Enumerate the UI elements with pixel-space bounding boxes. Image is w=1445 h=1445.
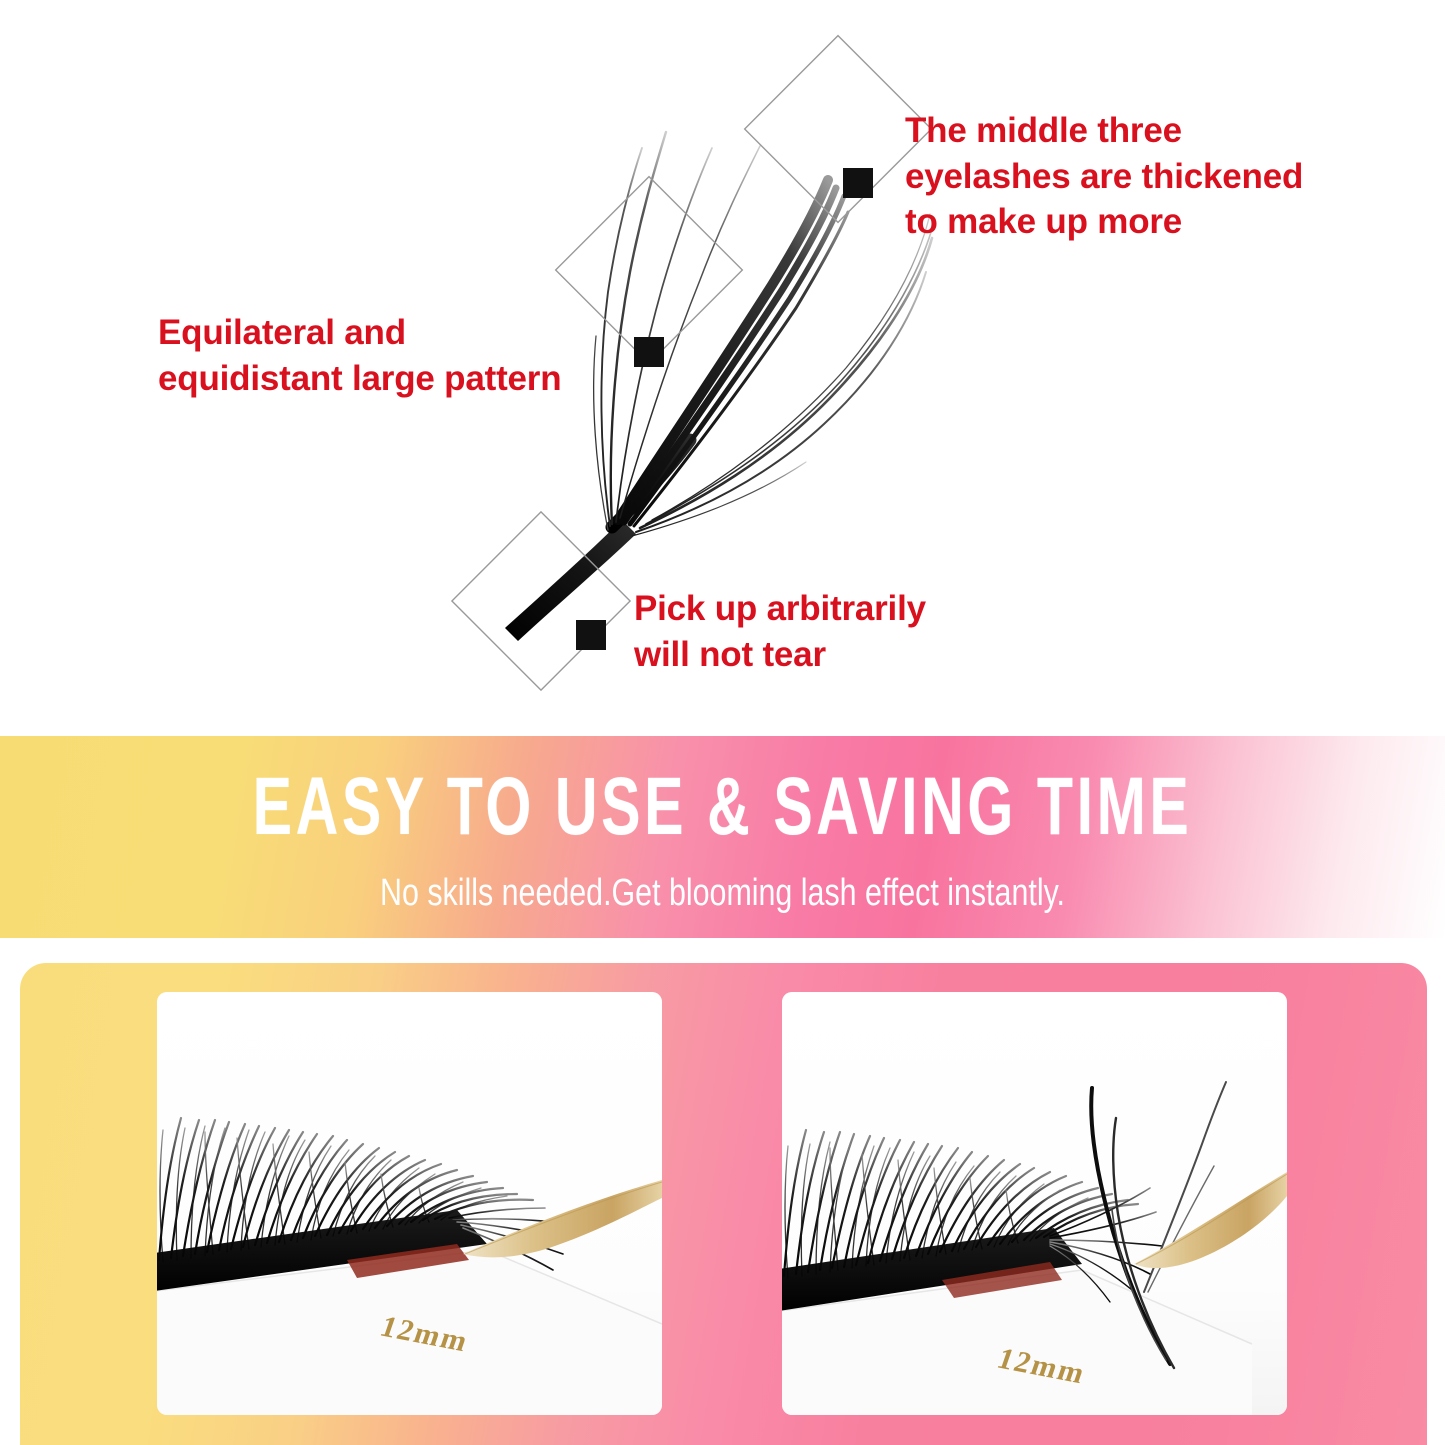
lash-fan-diagram: The middle three eyelashes are thickened… (0, 0, 1445, 736)
banner-title: EASY TO USE & SAVING TIME (202, 766, 1242, 848)
lash-tray-with-tweezers-photo (157, 992, 662, 1415)
photo-right: 12mm (782, 992, 1287, 1415)
marker-square-thickened (843, 168, 873, 198)
banner-subtitle: No skills needed.Get blooming lash effec… (145, 872, 1301, 915)
marker-square-equilateral (634, 337, 664, 367)
callout-equilateral-text: Equilateral and equidistant large patter… (158, 310, 561, 401)
easy-to-use-banner: EASY TO USE & SAVING TIME No skills need… (0, 736, 1445, 938)
callout-no-tear-text: Pick up arbitrarily will not tear (634, 586, 926, 677)
diamond-callout-equilateral (556, 177, 743, 367)
top-diagram-section: The middle three eyelashes are thickened… (0, 0, 1445, 736)
photo-card-left[interactable]: 12mm (157, 992, 662, 1415)
infographic-page: The middle three eyelashes are thickened… (0, 0, 1445, 1445)
product-photo-panel: 12mm (20, 963, 1427, 1445)
diamond-callout-thickened (745, 36, 932, 223)
photo-left: 12mm (157, 992, 662, 1415)
photo-card-right[interactable]: 12mm (782, 992, 1287, 1415)
marker-square-no-tear (576, 620, 606, 650)
callout-thickened-text: The middle three eyelashes are thickened… (905, 108, 1303, 245)
